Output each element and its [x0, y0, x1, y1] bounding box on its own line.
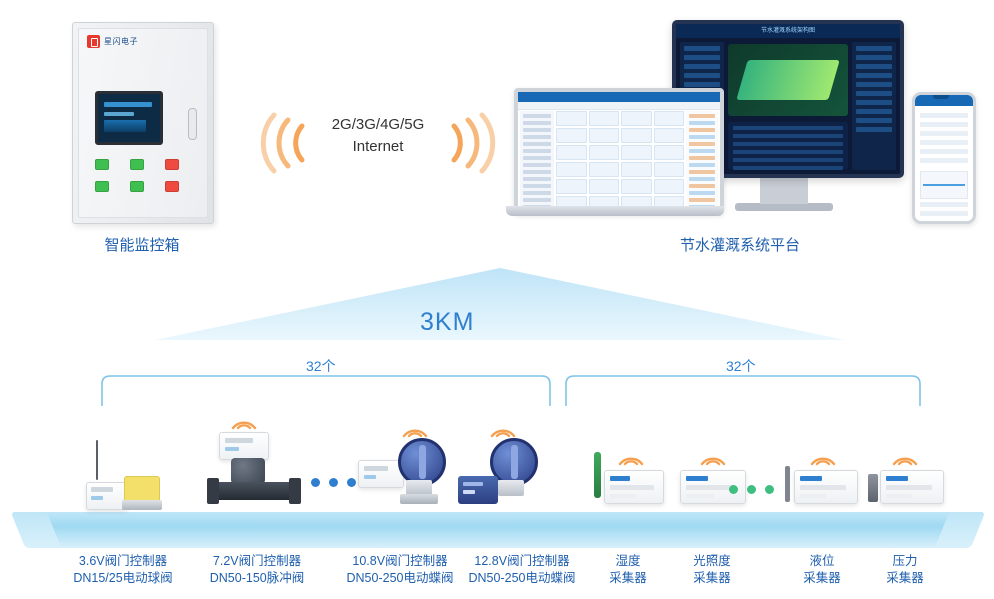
- ellipsis-right: [729, 485, 774, 494]
- monitor-field-map: [728, 44, 848, 116]
- device-valve-10v8: [358, 420, 444, 512]
- wifi-waves-icon: [616, 448, 646, 466]
- indicator-lamp-green: [95, 181, 109, 192]
- device-group-brackets: [90, 370, 930, 410]
- pulse-valve-actuator: [231, 458, 265, 484]
- indicator-lamp-green: [130, 181, 144, 192]
- monitor-base: [735, 203, 833, 211]
- wifi-waves-icon: [890, 448, 920, 466]
- label-line-1: 7.2V阀门控制器: [182, 553, 332, 570]
- cabinet-caption: 智能监控箱: [42, 236, 242, 256]
- wifi-waves-icon: [488, 420, 518, 438]
- device-sensor-level: [782, 430, 862, 512]
- diagram-canvas: 星闪电子 智能监控箱 2G/3G/4G/5G Internet: [0, 0, 994, 599]
- wifi-waves-icon: [400, 420, 430, 438]
- cabinet-indicator-row-2: [95, 181, 179, 192]
- ball-valve-body: [122, 500, 162, 510]
- cabinet-brand-text: 星闪电子: [104, 36, 138, 47]
- level-probe-icon: [785, 466, 790, 502]
- indicator-lamp-red: [165, 181, 179, 192]
- network-label: 2G/3G/4G/5G Internet: [312, 114, 444, 158]
- network-label-line1: 2G/3G/4G/5G: [312, 114, 444, 136]
- device-sensor-illuminance: [672, 430, 752, 512]
- label-sensor-pressure: 压力 采集器: [830, 553, 980, 587]
- label-line-2: DN50-150脉冲阀: [182, 570, 332, 587]
- label-line-1: 3.6V阀门控制器: [48, 553, 198, 570]
- collector-body: [880, 470, 944, 504]
- controller-body: [219, 432, 269, 460]
- monitor-app-header: 节水灌溉系统架构图: [676, 24, 900, 38]
- monitor-bottom-panel: [728, 122, 848, 169]
- label-valve-7v2: 7.2V阀门控制器 DN50-150脉冲阀: [182, 553, 332, 587]
- platform-caption: 节水灌溉系统平台: [590, 236, 890, 256]
- pressure-probe-icon: [868, 474, 878, 502]
- right-group-count: 32个: [726, 356, 756, 376]
- platform-laptop: [506, 88, 724, 216]
- soil-probe-icon: [594, 452, 601, 498]
- cabinet-brand-logo: 星闪电子: [87, 35, 138, 48]
- indicator-lamp-green: [130, 159, 144, 170]
- device-sensor-humidity: [588, 430, 668, 512]
- smart-monitoring-cabinet: 星闪电子: [72, 22, 214, 224]
- collector-body: [604, 470, 664, 504]
- collector-body: [794, 470, 858, 504]
- phone-trend-chart: [920, 171, 968, 199]
- signal-waves-left-icon: [258, 112, 310, 174]
- controller-body: [458, 476, 498, 504]
- wifi-waves-icon: [229, 412, 259, 430]
- indicator-lamp-red: [165, 159, 179, 170]
- laptop-device-grid: [556, 111, 684, 208]
- network-label-line2: Internet: [312, 136, 444, 158]
- wireless-link: 2G/3G/4G/5G Internet: [258, 100, 498, 190]
- field-plot-graphic: [736, 60, 839, 100]
- signal-waves-right-icon: [446, 112, 498, 174]
- monitor-stand: [760, 174, 808, 204]
- left-group-count: 32个: [306, 356, 336, 376]
- laptop-app-header: [518, 92, 720, 102]
- range-mountain-shape: [155, 268, 845, 340]
- device-valve-12v8: [458, 420, 548, 512]
- wifi-waves-icon: [698, 448, 728, 466]
- label-line-2: 采集器: [830, 570, 980, 587]
- controller-body: [358, 460, 404, 488]
- laptop-alarm-list: [686, 111, 718, 208]
- laptop-left-nav: [520, 111, 554, 208]
- indicator-lamp-green: [95, 159, 109, 170]
- device-valve-3v6: [78, 440, 168, 512]
- monitor-app-title: 节水灌溉系统架构图: [676, 25, 900, 34]
- laptop-base: [506, 206, 724, 216]
- cabinet-door-handle-icon: [188, 108, 197, 140]
- platform-mobile-phone: [912, 92, 976, 224]
- phone-notch: [933, 95, 949, 99]
- antenna-icon: [96, 440, 98, 480]
- laptop-screen: [514, 88, 724, 214]
- label-line-1: 压力: [830, 553, 980, 570]
- cabinet-hmi-screen: [95, 91, 163, 145]
- wifi-waves-icon: [808, 448, 838, 466]
- device-sensor-pressure: [862, 430, 948, 512]
- cabinet-indicator-row-1: [95, 159, 179, 170]
- pulse-valve-body: [211, 482, 295, 500]
- ground-band: [34, 512, 962, 548]
- label-valve-3v6: 3.6V阀门控制器 DN15/25电动球阀: [48, 553, 198, 587]
- brand-mark-icon: [87, 35, 100, 48]
- monitor-right-panel: [852, 42, 896, 170]
- range-label: 3KM: [420, 308, 474, 337]
- butterfly-valve-disc: [398, 438, 446, 486]
- laptop-toolbar: [518, 102, 720, 110]
- label-line-2: DN15/25电动球阀: [48, 570, 198, 587]
- phone-content: [915, 109, 973, 221]
- device-valve-7v2: [205, 412, 315, 512]
- ellipsis-left: [311, 478, 356, 487]
